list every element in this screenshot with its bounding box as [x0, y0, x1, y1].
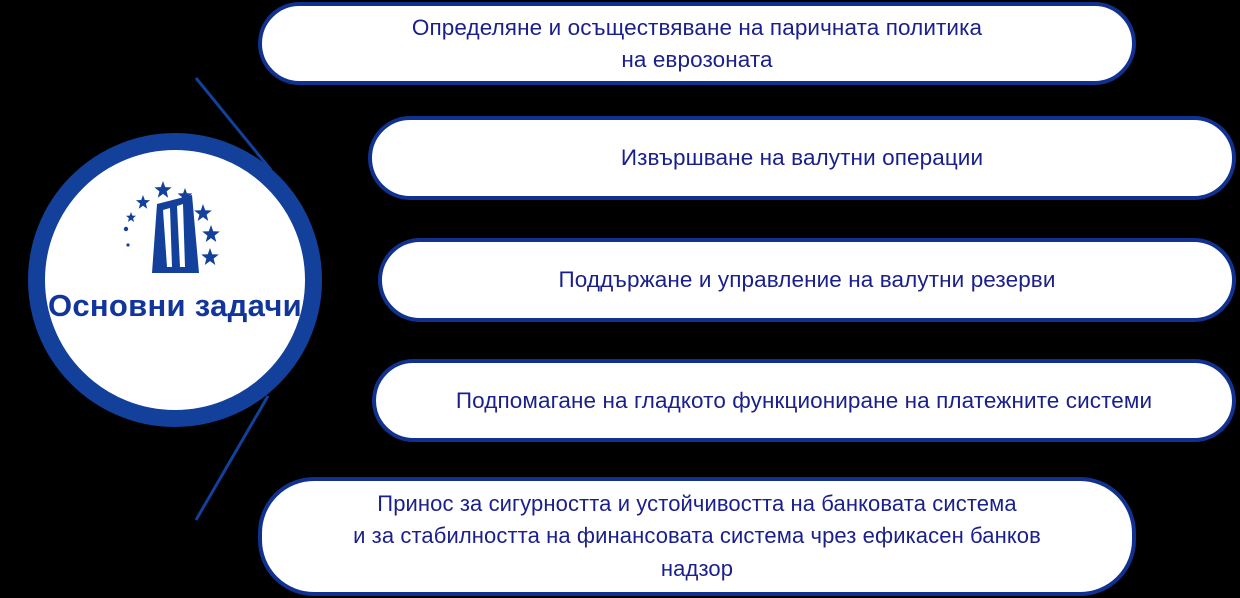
task-label: Подпомагане на гладкото функциониране на…: [430, 385, 1178, 417]
task-label: Извършване на валутни операции: [595, 142, 1009, 174]
task-box-monetary-policy[interactable]: Определяне и осъществяване на паричната …: [258, 2, 1136, 85]
task-label: Определяне и осъществяване на паричната …: [386, 12, 1008, 76]
hub-label: Основни задачи: [48, 286, 302, 326]
task-label: Принос за сигурността и устойчивостта на…: [327, 488, 1067, 585]
hub-circle: Основни задачи: [28, 133, 322, 427]
task-box-foreign-exchange[interactable]: Извършване на валутни операции: [368, 116, 1236, 200]
task-box-banking-supervision[interactable]: Принос за сигурността и устойчивостта на…: [258, 477, 1136, 596]
task-box-reserves[interactable]: Поддържане и управление на валутни резер…: [378, 238, 1236, 322]
ecb-building-stars-logo: [114, 172, 236, 280]
diagram-canvas: Основни задачи Определяне и осъществяван…: [0, 0, 1240, 598]
task-box-payment-systems[interactable]: Подпомагане на гладкото функциониране на…: [372, 359, 1236, 442]
task-label: Поддържане и управление на валутни резер…: [532, 264, 1081, 296]
